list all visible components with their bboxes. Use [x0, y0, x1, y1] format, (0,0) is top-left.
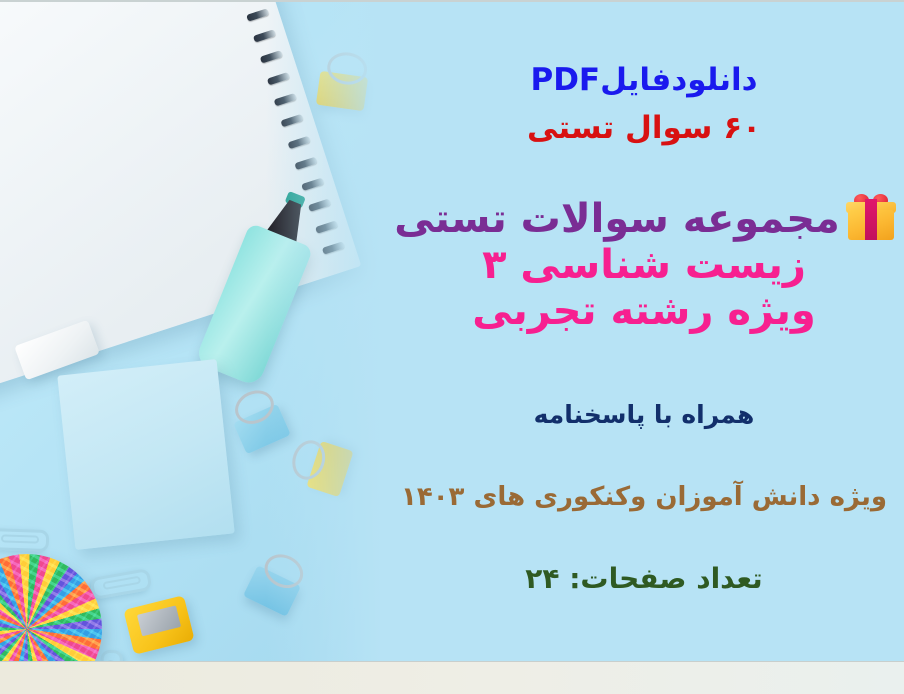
main-title-block: مجموعه سوالات تستی زیست شناسی ۳ ویژه رشت…: [384, 198, 904, 332]
pencil-sharpener-icon: [123, 595, 194, 655]
binder-clip-arm: [287, 436, 330, 484]
highlighter-cap: [285, 191, 306, 209]
binder-clip-arm: [230, 384, 280, 430]
poster-text-column: دانلودفایلPDF ۶۰ سوال تستی مجموعه سوالات…: [384, 2, 904, 664]
yellow-binder-clip-icon: [316, 71, 368, 111]
paper-clip-icon: [0, 528, 49, 552]
gift-box-icon: [848, 198, 894, 240]
promo-poster: دانلودفایلPDF ۶۰ سوال تستی مجموعه سوالات…: [0, 0, 904, 694]
notebook-spiral-binding: [210, 2, 350, 263]
bottom-strip: [0, 661, 904, 694]
binder-clip-arm: [259, 548, 309, 594]
teal-highlighter-icon: [195, 184, 331, 386]
yellow-binder-clip-icon: [306, 441, 353, 497]
light-blue-note-pad-icon: [57, 359, 234, 550]
spiral-notebook-icon: [0, 2, 361, 399]
title-line-3: ویژه رشته تجربی: [384, 290, 904, 332]
highlighter-tip: [253, 192, 319, 256]
page-count-note: تعداد صفحات: ۲۴: [384, 564, 904, 593]
binder-clip-arm: [325, 50, 369, 87]
question-count-headline: ۶۰ سوال تستی: [384, 112, 904, 145]
sharpener-blade: [137, 605, 181, 636]
stationery-photo: [0, 2, 380, 664]
rubber-band-ball-icon: [0, 554, 102, 664]
highlighter-body: [194, 223, 313, 388]
gift-ribbon: [865, 199, 877, 240]
answer-key-note: همراه با پاسخنامه: [384, 402, 904, 428]
blue-binder-clip-icon: [233, 404, 291, 455]
paper-clip-icon: [90, 568, 153, 600]
title-line-1: مجموعه سوالات تستی: [394, 198, 840, 240]
download-headline: دانلودفایلPDF: [384, 64, 904, 97]
title-line-2: زیست شناسی ۳: [384, 244, 904, 286]
title-line-1-row: مجموعه سوالات تستی: [384, 198, 904, 240]
white-eraser-icon: [14, 320, 100, 381]
blue-binder-clip-icon: [243, 565, 301, 617]
audience-note: ویژه دانش آموزان وکنکوری های ۱۴۰۳: [384, 484, 904, 511]
